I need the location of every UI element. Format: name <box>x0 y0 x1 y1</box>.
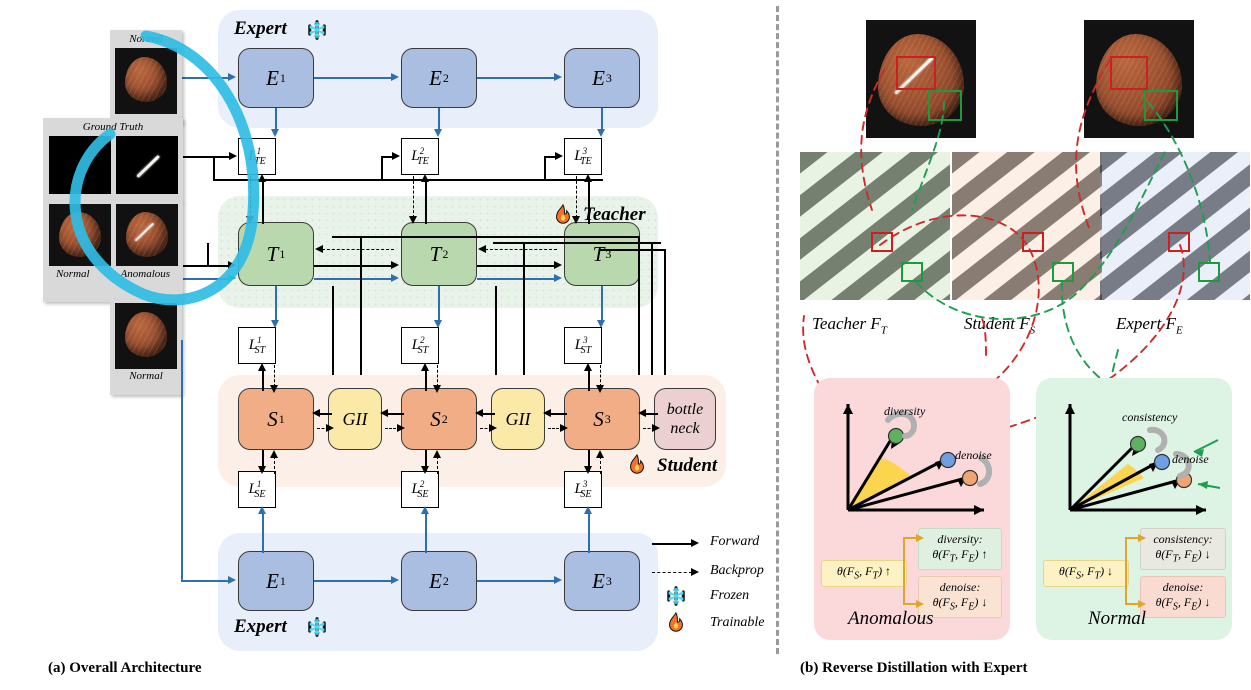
legend-label-trainable: Trainable <box>710 615 764 631</box>
caption-b: (b) Reverse Distillation with Expert <box>800 660 1027 677</box>
lse3-to-s3 <box>600 456 601 474</box>
student-node-1[interactable]: S1 <box>238 388 314 450</box>
legend-label-forward: Forward <box>710 534 759 550</box>
flame-icon-student <box>627 454 647 476</box>
eb2-to-lse2 <box>425 513 427 553</box>
cyan-augmentation-loop <box>38 22 268 322</box>
s2-to-lse2-head <box>421 466 429 474</box>
anomalous-outcome-diversity-title: diversity: <box>925 532 995 547</box>
t3-bus-bn-top <box>600 249 666 251</box>
expert-features-grid <box>1100 152 1250 304</box>
student-grid-red-box <box>1022 232 1044 252</box>
t1-t2-forward <box>314 265 392 267</box>
t3-to-lte3 <box>588 182 590 224</box>
figure-root: Expert E1 E2 E3 L1TE L2TE L3TE <box>0 0 1251 690</box>
t1-t2-forward-head <box>391 261 399 269</box>
s1-to-gii1-head <box>326 424 334 432</box>
gii2-to-s2 <box>481 413 495 415</box>
t3-bus-down-a <box>523 242 525 380</box>
anomalous-outcome-diversity-expr: θ(FT, FE) ↑ <box>925 547 995 566</box>
lte2-to-t2-head <box>409 216 417 224</box>
expert-grid-red-box <box>1168 232 1190 252</box>
legend-forward-line <box>652 543 692 545</box>
loss-st-1: L1ST <box>238 327 276 364</box>
gt-bus-to-lte2-head <box>392 152 400 160</box>
teacher-node-2[interactable]: T2 <box>401 222 477 286</box>
legend: Forward Backprop Frozen Trainable <box>648 524 776 634</box>
gii1-to-s1-head <box>312 409 320 417</box>
s3-to-gii2 <box>549 413 567 415</box>
gt-bus-to-lte3 <box>544 157 546 180</box>
gii-node-2[interactable]: GII <box>491 388 545 450</box>
normal-source-expr: θ(FS, FT) ↓ <box>1059 564 1113 578</box>
student-features-grid <box>952 152 1102 304</box>
expert-bottom-node-1[interactable]: E1 <box>238 551 314 611</box>
t1-skip-top <box>332 236 638 238</box>
t3-to-lte3-head <box>584 174 592 182</box>
anomalous-outcome-diversity: diversity: θ(FT, FE) ↑ <box>918 528 1002 570</box>
loss-st-3: L3ST <box>564 327 602 364</box>
lst3-to-s3-head <box>596 385 604 393</box>
teacher-node-3[interactable]: T3 <box>564 222 640 286</box>
normal-outcome-consistency-expr: θ(FT, FE) ↓ <box>1147 547 1219 566</box>
snowflake-icon-bottom <box>307 617 327 637</box>
lst1-to-s1-head <box>270 385 278 393</box>
gt-bus-to-lte2-h <box>381 156 392 158</box>
expert-top-link-2 <box>477 77 555 79</box>
legend-backprop-line <box>652 572 692 573</box>
t1-t2-blue <box>314 278 392 280</box>
expert-bottom-link-2 <box>477 580 555 582</box>
expert-top-link-1-head <box>391 73 399 81</box>
gii2-to-s3-head <box>560 424 568 432</box>
gii1-to-s2-head <box>397 424 405 432</box>
anomalous-annot-denoise: denoise <box>955 448 992 463</box>
loss-se-2: L2SE <box>401 471 439 508</box>
anomalous-flow-arrows <box>902 526 924 616</box>
t2-t3-forward <box>477 265 555 267</box>
panel-divider <box>776 6 779 654</box>
eb3-to-lse3-head <box>584 506 592 514</box>
bn-to-s3 <box>644 413 658 415</box>
lst2-to-s2 <box>437 365 438 387</box>
t2-t3-blue <box>477 278 555 280</box>
loss-te-2: L2TE <box>401 138 439 175</box>
teacher-features-grid <box>800 152 950 304</box>
legend-label-backprop: Backprop <box>710 563 764 579</box>
anomalous-source-chip: θ(FS, FT) ↑ <box>821 560 907 587</box>
t2-to-lte2-head <box>421 174 429 182</box>
lst3-to-s3 <box>600 365 601 387</box>
t2-skip-top <box>493 242 661 244</box>
t2-t1-backprop-head <box>315 245 323 253</box>
eb1-to-lse1-head <box>258 506 266 514</box>
normal-outcome-consistency-title: consistency: <box>1147 532 1219 547</box>
s1-to-lst1-head <box>258 363 266 371</box>
t2-to-lst2 <box>438 286 440 323</box>
anomalous-outcome-denoise-expr: θ(FS, FE) ↓ <box>925 595 995 614</box>
normal-photo <box>1084 20 1194 138</box>
snowflake-icon <box>307 20 327 40</box>
normal-annot-consistency: consistency <box>1122 410 1177 425</box>
normal-source-chip: θ(FS, FT) ↓ <box>1043 560 1129 587</box>
normal-outcome-consistency: consistency: θ(FT, FE) ↓ <box>1140 528 1226 570</box>
t2-t3-forward-head <box>554 261 562 269</box>
input-to-expert-bottom-head <box>228 576 236 584</box>
expert-grid-green-box <box>1198 262 1220 282</box>
s3-to-bn-head <box>652 424 660 432</box>
normal-outcome-denoise-title: denoise: <box>1147 580 1219 595</box>
s2-to-lst2 <box>425 371 427 391</box>
eb1-to-lse1 <box>262 513 264 553</box>
gt-bus-to-lte3-head <box>555 152 563 160</box>
bottom-normal-riser <box>181 340 183 581</box>
anomalous-photo-red-box <box>896 56 936 90</box>
normal-outcome-denoise: denoise: θ(FS, FE) ↓ <box>1140 576 1226 618</box>
expert-top-link-1 <box>314 77 392 79</box>
lte3-to-t3-head <box>572 216 580 224</box>
student-grid-green-box <box>1052 262 1074 282</box>
s3-to-lst3-head <box>584 363 592 371</box>
lse2-to-s2 <box>437 456 438 474</box>
s2-to-gii2-head <box>489 424 497 432</box>
normal-photo-green-box <box>1144 90 1178 121</box>
bottleneck-node[interactable]: bottle neck <box>654 388 716 450</box>
lst2-to-s2-head <box>433 385 441 393</box>
t3-to-lst3 <box>601 286 603 323</box>
legend-label-frozen: Frozen <box>710 588 749 604</box>
student-node-3[interactable]: S3 <box>564 388 640 450</box>
t-bus-bn-2 <box>651 242 653 380</box>
gt-bus-to-lte2 <box>381 157 383 180</box>
bn-to-s3-head <box>638 409 646 417</box>
normal-panel-title: Normal <box>1088 608 1146 630</box>
loss-st-2: L2ST <box>401 327 439 364</box>
student-node-2[interactable]: S2 <box>401 388 477 450</box>
expert-bottom-link-2-head <box>554 576 562 584</box>
expert-bottom-node-2[interactable]: E2 <box>401 551 477 611</box>
bottleneck-label: bottle neck <box>655 400 715 438</box>
t-bus-bn-1 <box>638 236 640 380</box>
input-to-expert-bottom <box>181 580 229 582</box>
normal-flow-arrows <box>1124 526 1146 616</box>
teacher-grid-red-box <box>871 232 893 252</box>
anomalous-photo-green-box <box>928 90 962 121</box>
s3-to-lse3-head <box>584 466 592 474</box>
s2-to-gii1 <box>386 413 404 415</box>
student-title: Student <box>657 455 717 477</box>
snowflake-icon-legend <box>666 586 686 606</box>
lse3-to-s3-head <box>596 450 604 458</box>
expert-top-node-3[interactable]: E3 <box>564 48 640 108</box>
s3-to-lst3 <box>588 371 590 391</box>
s3-to-gii2-head <box>543 409 551 417</box>
t1-t2-blue-head <box>391 274 399 282</box>
anomalous-panel-title: Anomalous <box>848 608 934 630</box>
loss-se-3: L3SE <box>564 471 602 508</box>
anomalous-source-expr: θ(FS, FT) ↑ <box>837 564 891 578</box>
input-label-normal-bottom: Normal <box>129 369 163 383</box>
gii1-to-s1 <box>318 413 332 415</box>
expert-features-label: Expert FE <box>1116 314 1183 336</box>
e2-to-lte2-head <box>434 129 442 137</box>
teacher-grid-green-box <box>901 262 923 282</box>
t-bus-bn-3 <box>664 249 666 380</box>
bottom-normal-stub <box>181 340 183 342</box>
legend-backprop-arrow-icon <box>691 568 699 576</box>
anomalous-annot-diversity: diversity <box>884 404 925 419</box>
lte3-to-t3-dashed <box>576 176 577 218</box>
anomalous-outcome-denoise-title: denoise: <box>925 580 995 595</box>
student-features-label: Student FS <box>964 314 1035 336</box>
expert-top-node-2[interactable]: E2 <box>401 48 477 108</box>
gt-bus-to-lte3-h <box>544 156 555 158</box>
legend-forward-arrow-icon <box>691 539 699 547</box>
normal-annot-denoise: denoise <box>1172 452 1209 467</box>
flame-icon-legend <box>666 612 686 634</box>
t1-to-lst1 <box>275 286 277 323</box>
t2-bus-down-b <box>495 286 497 380</box>
t2-to-lte2 <box>425 182 427 224</box>
eb3-to-lse3 <box>588 513 590 553</box>
expert-bottom-link-1-head <box>391 576 399 584</box>
s2-to-gii1-head <box>380 409 388 417</box>
t2-t3-blue-head <box>554 274 562 282</box>
t3-t2-backprop-head <box>478 245 486 253</box>
caption-a: (a) Overall Architecture <box>48 660 202 677</box>
t3-t2-backprop <box>485 249 557 250</box>
lte2-to-t2-dashed <box>413 176 414 218</box>
normal-photo-red-box <box>1110 56 1148 90</box>
lst1-to-s1 <box>274 365 275 387</box>
t1-bus-down <box>332 286 334 380</box>
expert-bottom-link-1 <box>314 580 392 582</box>
s2-to-lst2-head <box>421 363 429 371</box>
lse2-to-s2-head <box>433 450 441 458</box>
eb2-to-lse2-head <box>421 506 429 514</box>
loss-se-1: L1SE <box>238 471 276 508</box>
gii2-to-s2-head <box>475 409 483 417</box>
e1-to-lte1-head <box>271 129 279 137</box>
s1-to-lst1 <box>262 371 264 391</box>
e3-to-lte3-head <box>597 129 605 137</box>
expert-top-link-2-head <box>554 73 562 81</box>
loss-te-3: L3TE <box>564 138 602 175</box>
t2-bus-down-a <box>360 236 362 380</box>
anomalous-photo <box>866 20 976 138</box>
lse1-to-s1-head <box>270 450 278 458</box>
gii-node-1[interactable]: GII <box>328 388 382 450</box>
teacher-features-label: Teacher FT <box>812 314 887 336</box>
expert-bottom-node-3[interactable]: E3 <box>564 551 640 611</box>
s1-to-lse1-head <box>258 466 266 474</box>
lse1-to-s1 <box>274 456 275 474</box>
t2-t1-backprop <box>322 249 394 250</box>
expert-bottom-title: Expert <box>234 616 287 638</box>
normal-outcome-denoise-expr: θ(FS, FE) ↓ <box>1147 595 1219 614</box>
